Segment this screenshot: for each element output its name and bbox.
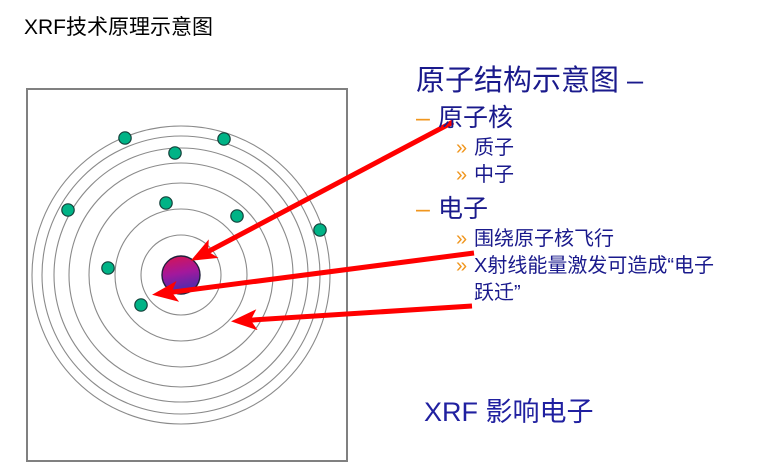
outline-list: 原子结构示意图 – – 原子核 » 质子 » 中子 – 电子 » 围绕原子核飞行… <box>416 62 766 307</box>
outline-subitem-label: 中子 <box>474 164 514 186</box>
outline-item-label: 电子 <box>438 195 488 223</box>
electron <box>62 204 74 216</box>
electron <box>135 299 147 311</box>
outline-subitem-xray: » X射线能量激发可造成“电子跃迁” <box>474 253 726 307</box>
outline-item-label: 原子核 <box>438 104 513 132</box>
outline-subitem-neutron: » 中子 <box>474 162 726 189</box>
electron <box>160 197 172 209</box>
page-title: XRF技术原理示意图 <box>24 14 213 42</box>
electron <box>314 224 326 236</box>
chevron-bullet-icon: » <box>456 226 467 253</box>
outline-item-electron: – 电子 <box>438 193 766 226</box>
electron <box>102 262 114 274</box>
chevron-bullet-icon: » <box>456 135 467 162</box>
outline-subitem-label: X射线能量激发可造成“电子跃迁” <box>474 255 714 304</box>
outline-subitem-label: 围绕原子核飞行 <box>474 228 614 250</box>
footer-text: XRF 影响电子 <box>424 394 594 430</box>
atom-diagram-svg <box>28 90 346 460</box>
outline-subitem-proton: » 质子 <box>474 135 726 162</box>
electron <box>169 147 181 159</box>
chevron-bullet-icon: » <box>456 253 467 280</box>
atom-structure-diagram <box>26 88 348 462</box>
slide-canvas: XRF技术原理示意图 <box>0 0 772 474</box>
dash-bullet-icon: – <box>416 193 430 226</box>
outline-heading: 原子结构示意图 – <box>416 62 766 100</box>
electron <box>218 133 230 145</box>
electron <box>231 210 243 222</box>
dash-bullet-icon: – <box>416 102 430 135</box>
outline-item-nucleus: – 原子核 <box>438 102 766 135</box>
outline-subitem-orbiting: » 围绕原子核飞行 <box>474 226 726 253</box>
chevron-bullet-icon: » <box>456 162 467 189</box>
outline-subitem-label: 质子 <box>474 137 514 159</box>
nucleus <box>162 256 200 294</box>
electron <box>119 132 131 144</box>
